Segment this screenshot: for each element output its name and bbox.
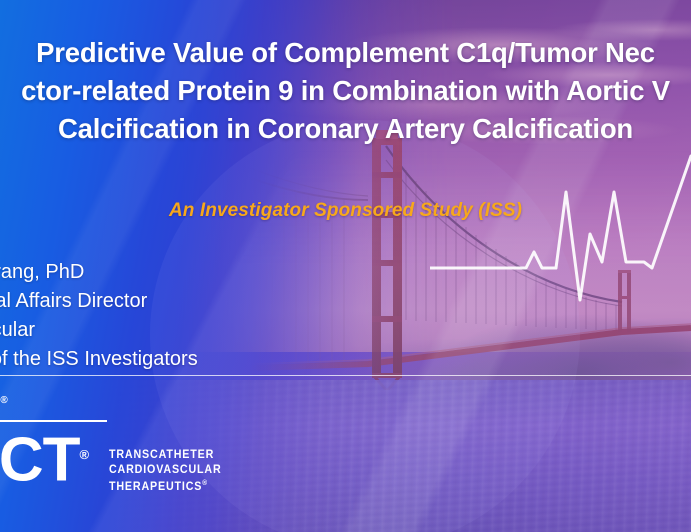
logo-sub-line-1: TRANSCATHETER xyxy=(109,448,222,463)
author-name: sh Narang, PhD xyxy=(0,258,282,287)
tct-wordmark: TCT® xyxy=(0,422,89,494)
crf-registered-icon: ® xyxy=(0,395,7,406)
tct-registered-icon: ® xyxy=(80,447,90,462)
tct-text: TCT xyxy=(0,426,80,495)
author-behalf: ehalf of the ISS Investigators xyxy=(0,345,282,374)
therapeutics-registered-icon: ® xyxy=(202,480,207,487)
author-block: sh Narang, PhD Medical Affairs Director … xyxy=(0,258,282,374)
logo-sub-line-3-text: THERAPEUTICS xyxy=(109,481,202,493)
slide-content: Predictive Value of Complement C1q/Tumor… xyxy=(0,0,691,532)
title-line-2: ctor-related Protein 9 in Combination wi… xyxy=(0,72,691,110)
author-title: Medical Affairs Director xyxy=(0,287,282,316)
tct-logo: RF® TCT® TRANSCATHETER CARDIOVASCULAR TH… xyxy=(0,388,266,508)
title-line-3: Calcification in Coronary Artery Calcifi… xyxy=(0,110,691,148)
slide-title: Predictive Value of Complement C1q/Tumor… xyxy=(0,34,691,148)
title-line-1: Predictive Value of Complement C1q/Tumor… xyxy=(0,34,691,72)
author-affiliation: tt Vascular xyxy=(0,316,282,345)
title-slide: Predictive Value of Complement C1q/Tumor… xyxy=(0,0,691,532)
slide-subtitle: An Investigator Sponsored Study (ISS) xyxy=(0,200,691,222)
logo-sub-line-3: THERAPEUTICS® xyxy=(109,477,222,494)
crf-wordmark: RF® xyxy=(0,388,8,417)
logo-sub-line-2: CARDIOVASCULAR xyxy=(109,463,222,478)
tct-logo-subtitle: TRANSCATHETER CARDIOVASCULAR THERAPEUTIC… xyxy=(109,448,222,494)
